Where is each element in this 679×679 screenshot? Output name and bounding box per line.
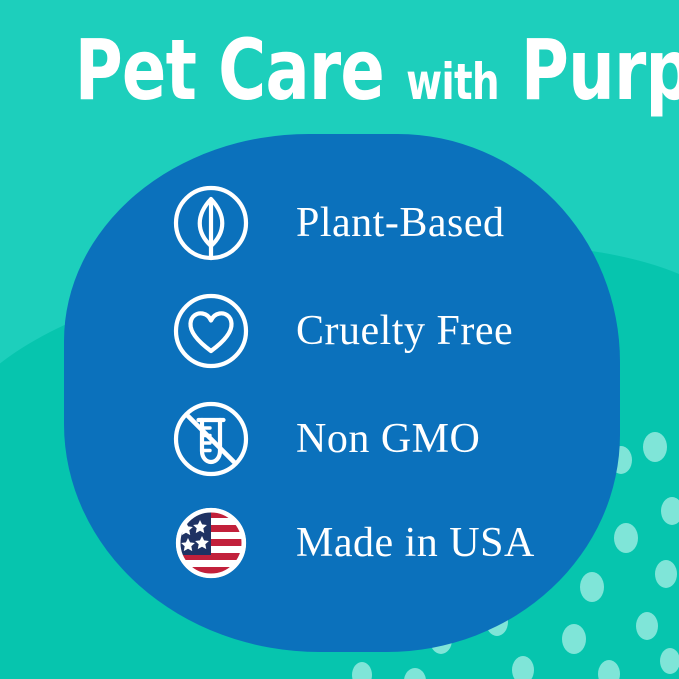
no-gmo-icon [170,398,252,480]
feature-list: Plant-Based Cruelty Free [0,0,679,679]
list-item: Non GMO [170,398,480,480]
list-item-label: Cruelty Free [296,309,513,353]
list-item: Cruelty Free [170,290,513,372]
list-item-label: Plant-Based [296,201,504,245]
usa-flag-icon [170,502,252,584]
list-item-label: Made in USA [296,521,535,565]
promo-graphic: Pet Care with Purpose® Plant-Based [0,0,679,679]
leaf-icon [170,182,252,264]
list-item: Plant-Based [170,182,504,264]
list-item-label: Non GMO [296,417,480,461]
list-item: Made in USA [170,502,535,584]
heart-icon [170,290,252,372]
